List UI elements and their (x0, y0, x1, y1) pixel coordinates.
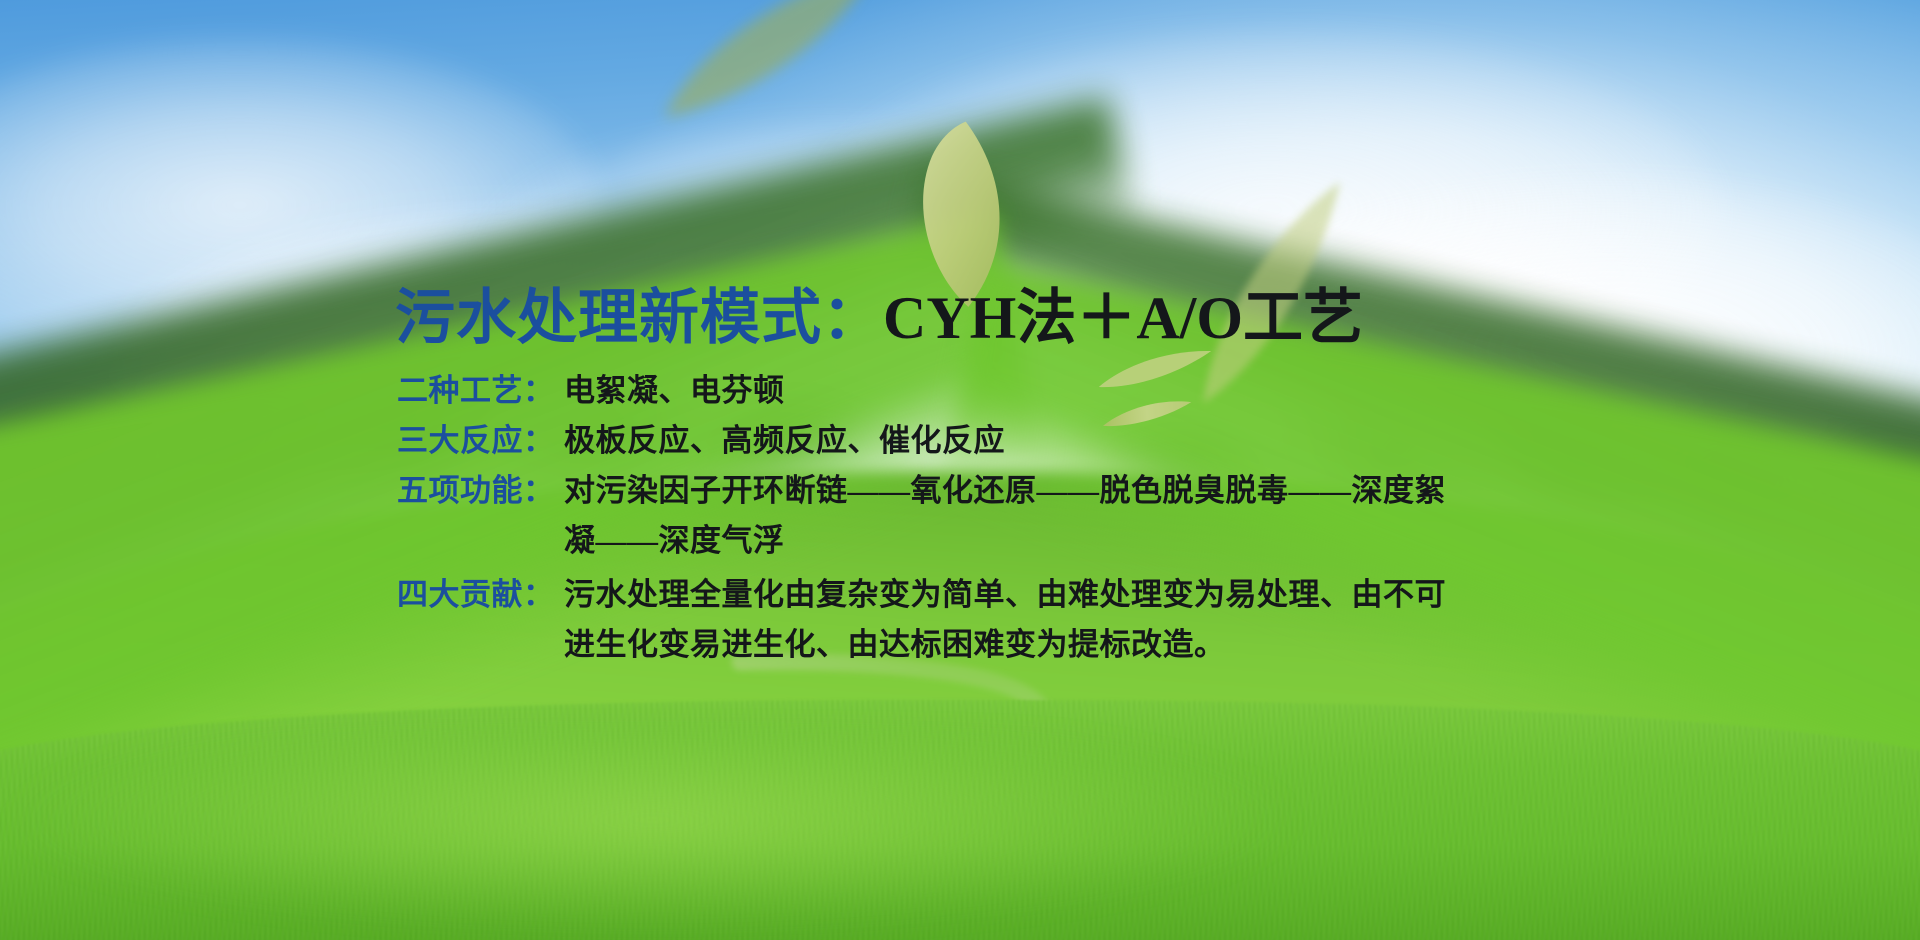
spec-row-reactions: 三大反应： 极板反应、高频反应、催化反应 (397, 416, 1457, 466)
page-title: 污水处理新模式：CYH法＋A/O工艺 (395, 285, 1363, 352)
spec-row-processes: 二种工艺： 电絮凝、电芬顿 (397, 366, 1457, 416)
spec-label-functions: 五项功能： (397, 466, 564, 516)
spec-row-contributions: 四大贡献： 污水处理全量化由复杂变为简单、由难处理变为易处理、由不可进生化变易进… (397, 570, 1457, 670)
spec-value-reactions: 极板反应、高频反应、催化反应 (564, 416, 1457, 466)
spec-value-functions: 对污染因子开环断链——氧化还原——脱色脱臭脱毒——深度絮凝——深度气浮 (564, 466, 1457, 566)
slide-canvas: 污水处理新模式：CYH法＋A/O工艺 二种工艺： 电絮凝、电芬顿 三大反应： 极… (0, 0, 1920, 940)
spec-row-functions: 五项功能： 对污染因子开环断链——氧化还原——脱色脱臭脱毒——深度絮凝——深度气… (397, 466, 1457, 566)
spec-label-contributions: 四大贡献： (397, 570, 564, 620)
page-title-dark-part: CYH法＋A/O工艺 (883, 285, 1363, 351)
spec-value-contributions: 污水处理全量化由复杂变为简单、由难处理变为易处理、由不可进生化变易进生化、由达标… (564, 570, 1457, 670)
foreground-lawn-sheen (0, 740, 1920, 940)
spec-value-processes: 电絮凝、电芬顿 (564, 366, 1457, 416)
spec-list: 二种工艺： 电絮凝、电芬顿 三大反应： 极板反应、高频反应、催化反应 五项功能：… (397, 366, 1457, 670)
spec-label-processes: 二种工艺： (397, 366, 564, 416)
page-title-blue-part: 污水处理新模式： (395, 283, 883, 353)
spec-label-reactions: 三大反应： (397, 416, 564, 466)
